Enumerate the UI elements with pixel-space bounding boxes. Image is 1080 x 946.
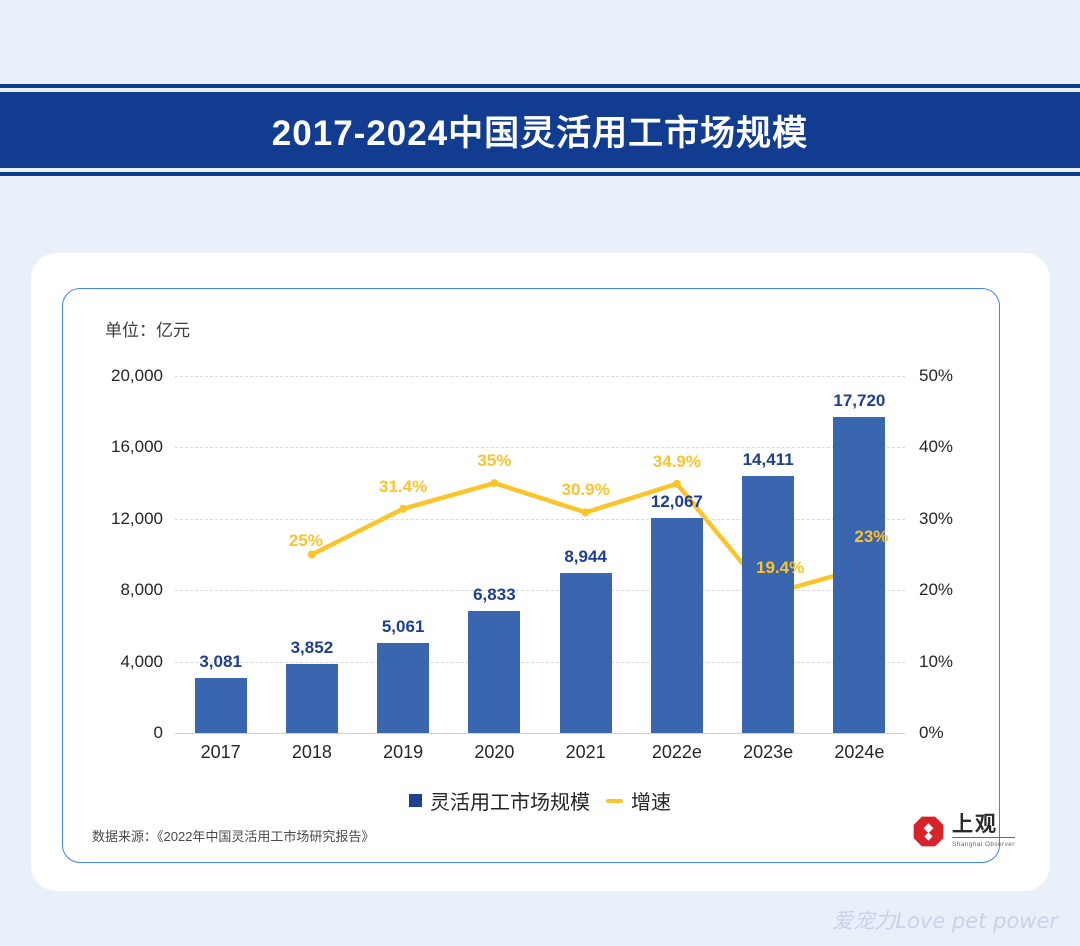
banner-bottom-rule — [0, 172, 1080, 176]
legend-bar-label: 灵活用工市场规模 — [430, 786, 590, 815]
y-axis-tick-right: 10% — [919, 652, 953, 672]
y-axis-tick-right: 50% — [919, 366, 953, 386]
bar[interactable] — [833, 417, 885, 733]
x-axis-tick: 2020 — [474, 742, 514, 763]
growth-rate-line-series — [175, 376, 905, 733]
line-value-label: 35% — [477, 451, 511, 471]
bar[interactable] — [651, 518, 703, 733]
bar-value-label: 17,720 — [833, 391, 885, 411]
brand-logo: 上观 Shanghai Observer — [912, 814, 1015, 848]
logo-text-block: 上观 Shanghai Observer — [952, 814, 1015, 848]
logo-name-zh: 上观 — [952, 814, 1015, 838]
bar-value-label: 6,833 — [473, 585, 516, 605]
line-data-point[interactable] — [399, 505, 407, 513]
gridline — [175, 376, 905, 377]
legend-line-swatch-icon — [606, 799, 623, 803]
bar[interactable] — [286, 664, 338, 733]
shanghai-observer-mark-icon — [912, 815, 945, 848]
bar-value-label: 8,944 — [564, 547, 607, 567]
unit-label: 单位：亿元 — [105, 316, 190, 341]
y-axis-tick-left: 4,000 — [120, 652, 163, 672]
bar-value-label: 14,411 — [743, 450, 794, 470]
y-axis-tick-left: 0 — [154, 723, 163, 743]
line-value-label: 19.4% — [756, 558, 804, 578]
bar[interactable] — [195, 678, 247, 733]
legend-line-label: 增速 — [631, 786, 671, 815]
x-axis-tick: 2022e — [652, 742, 702, 763]
y-axis-tick-right: 20% — [919, 580, 953, 600]
line-data-point[interactable] — [490, 479, 498, 487]
line-value-label: 25% — [289, 531, 323, 551]
y-axis-tick-left: 20,000 — [111, 366, 163, 386]
line-value-label: 34.9% — [653, 452, 701, 472]
bar[interactable] — [560, 573, 612, 733]
x-axis-tick: 2021 — [566, 742, 606, 763]
gridline — [175, 519, 905, 520]
bar[interactable] — [742, 476, 794, 733]
gridline — [175, 447, 905, 448]
y-axis-tick-right: 40% — [919, 437, 953, 457]
line-data-point[interactable] — [582, 508, 590, 516]
line-value-label: 23% — [854, 527, 888, 547]
page-title: 2017-2024中国灵活用工市场规模 — [272, 105, 808, 156]
bar[interactable] — [468, 611, 520, 733]
legend-item-bar[interactable]: 灵活用工市场规模 — [409, 786, 590, 815]
watermark: 爱宠力Love pet power — [832, 905, 1058, 935]
y-axis-tick-left: 8,000 — [120, 580, 163, 600]
bar-value-label: 12,067 — [651, 492, 703, 512]
x-axis-tick: 2017 — [201, 742, 241, 763]
banner-body: 2017-2024中国灵活用工市场规模 — [0, 92, 1080, 168]
bar-value-label: 3,081 — [199, 652, 242, 672]
data-source-note: 数据来源：《2022年中国灵活用工市场研究报告》 — [92, 826, 374, 845]
gridline — [175, 662, 905, 663]
chart-plot-area: 04,0008,00012,00016,00020,0000%10%20%30%… — [175, 376, 905, 733]
y-axis-tick-right: 0% — [919, 723, 944, 743]
bar-value-label: 3,852 — [291, 638, 334, 658]
line-data-point[interactable] — [308, 551, 316, 559]
legend-bar-swatch-icon — [409, 794, 422, 807]
line-data-point[interactable] — [673, 480, 681, 488]
x-axis-tick: 2019 — [383, 742, 423, 763]
line-value-label: 31.4% — [379, 477, 427, 497]
y-axis-tick-right: 30% — [919, 509, 953, 529]
header-banner: 2017-2024中国灵活用工市场规模 — [0, 84, 1080, 176]
gridline — [175, 590, 905, 591]
y-axis-tick-left: 12,000 — [111, 509, 163, 529]
legend-item-line[interactable]: 增速 — [606, 786, 671, 815]
y-axis-tick-left: 16,000 — [111, 437, 163, 457]
gridline — [175, 733, 905, 734]
x-axis-tick: 2018 — [292, 742, 332, 763]
x-axis-tick: 2023e — [743, 742, 793, 763]
line-value-label: 30.9% — [562, 480, 610, 500]
bar-value-label: 5,061 — [382, 617, 425, 637]
bar[interactable] — [377, 643, 429, 733]
logo-name-en: Shanghai Observer — [952, 841, 1015, 848]
chart-legend: 灵活用工市场规模 增速 — [0, 786, 1080, 815]
x-axis-tick: 2024e — [834, 742, 884, 763]
